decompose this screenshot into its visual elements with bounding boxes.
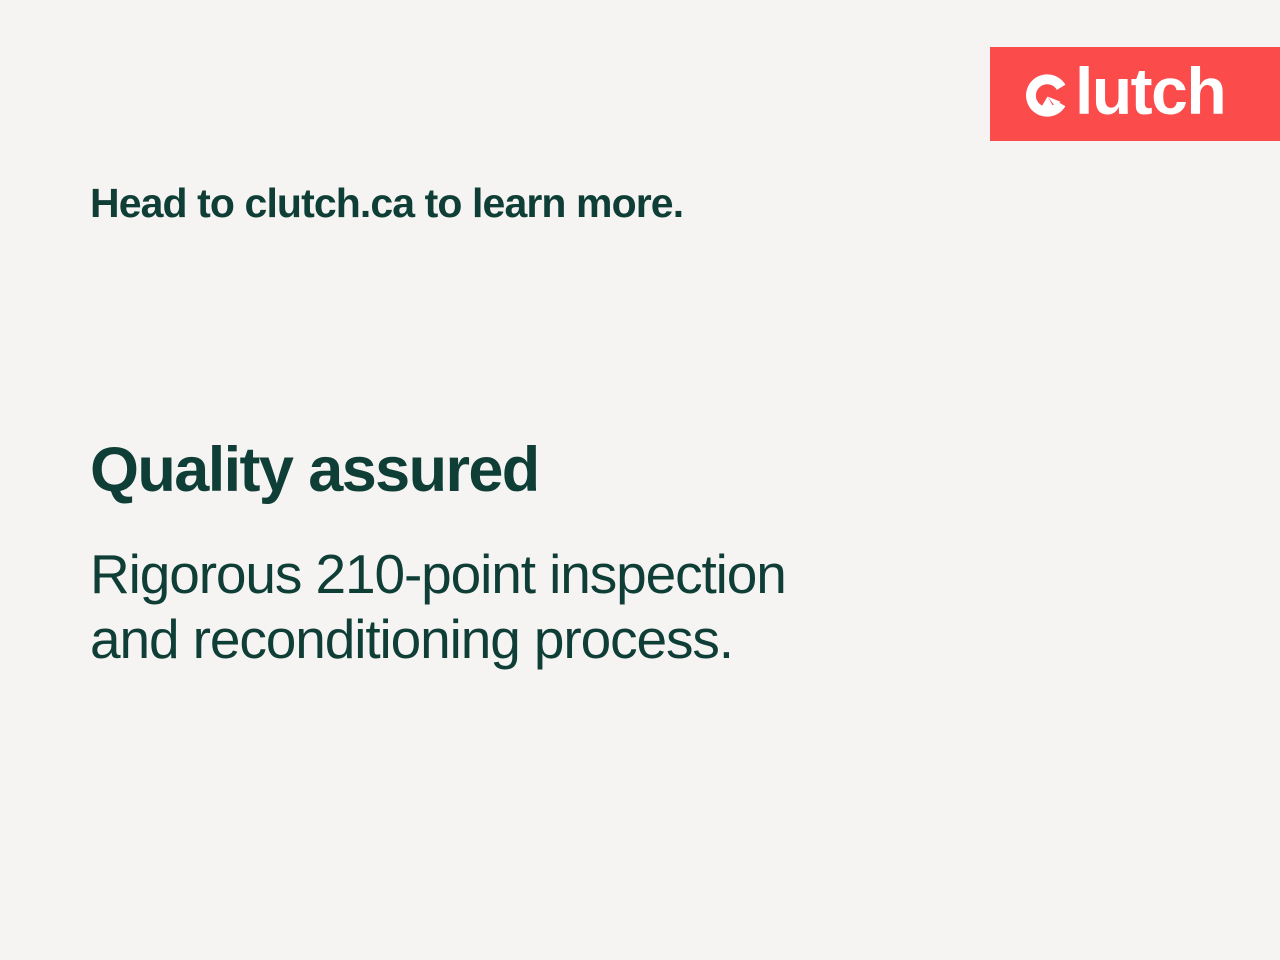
page-title: Quality assured bbox=[90, 436, 539, 504]
kicker-text: Head to clutch.ca to learn more. bbox=[90, 180, 683, 227]
logo-wordmark: lutch bbox=[1075, 58, 1225, 124]
body-copy-line-1: Rigorous 210-point inspection bbox=[90, 542, 786, 607]
body-copy-line-2: and reconditioning process. bbox=[90, 607, 786, 672]
body-copy: Rigorous 210-point inspection and recond… bbox=[90, 542, 786, 672]
logo-lockup: lutch bbox=[1024, 63, 1225, 125]
clutch-plate-c-icon bbox=[1024, 72, 1071, 119]
clutch-logo-block[interactable]: lutch bbox=[990, 47, 1280, 141]
slide-canvas: lutch Head to clutch.ca to learn more. Q… bbox=[0, 0, 1280, 960]
